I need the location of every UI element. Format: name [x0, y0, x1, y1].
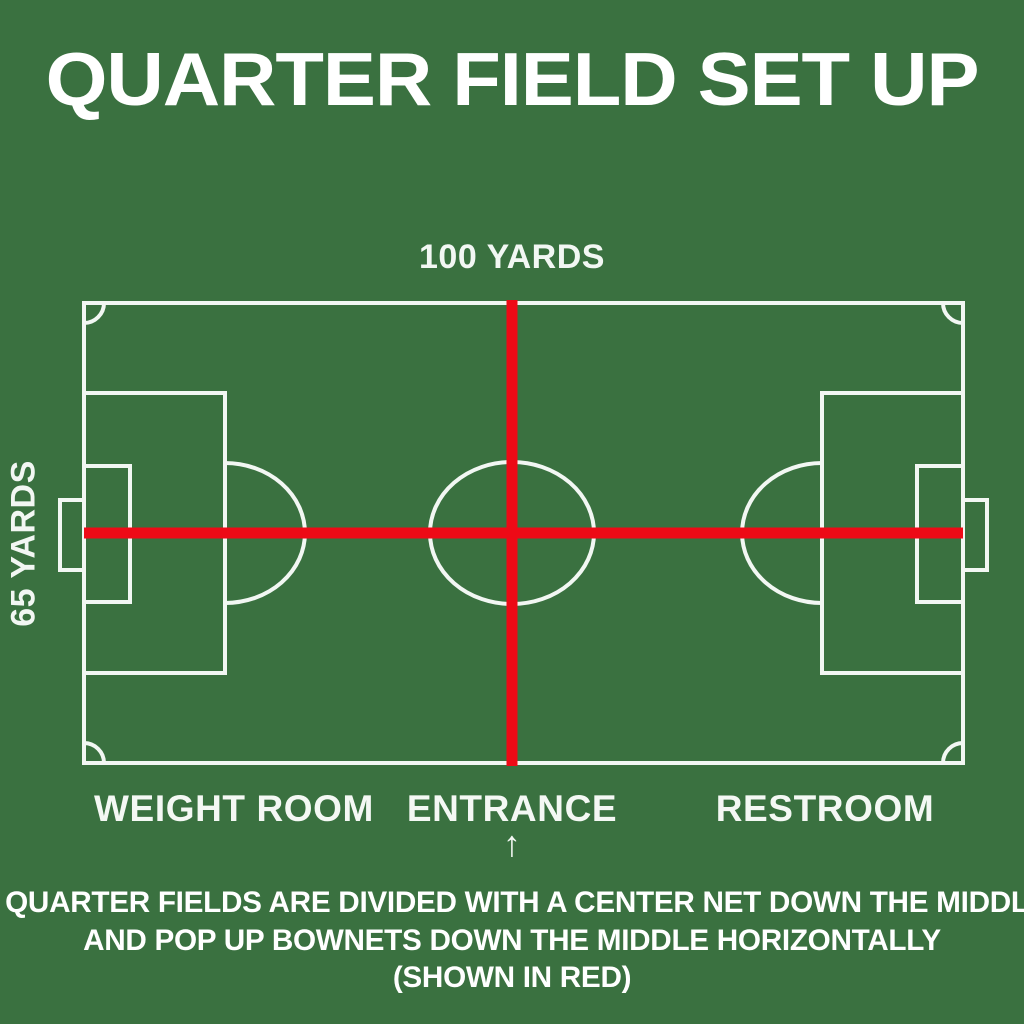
soccer-field-diagram [0, 0, 1024, 1024]
corner-arc-top-right [943, 303, 963, 323]
entrance-up-arrow-icon: ↑ [360, 826, 664, 862]
caption-line-1: QUARTER FIELDS ARE DIVIDED WITH A CENTER… [5, 884, 1019, 922]
infographic-root: QUARTER FIELD SET UP 100 YARDS 65 YARDS [0, 0, 1024, 1024]
goal-right [963, 500, 987, 570]
zone-label-restroom: RESTROOM [660, 788, 990, 830]
zone-label-weight-room: WEIGHT ROOM [56, 788, 412, 830]
caption-line-3: (SHOWN IN RED) [5, 959, 1019, 997]
corner-arc-top-left [84, 303, 104, 323]
goal-left [60, 500, 84, 570]
net-divider-group [84, 300, 963, 766]
caption-line-2: AND POP UP BOWNETS DOWN THE MIDDLE HORIZ… [5, 922, 1019, 960]
corner-arc-bottom-right [943, 743, 963, 763]
corner-arc-bottom-left [84, 743, 104, 763]
caption-block: QUARTER FIELDS ARE DIVIDED WITH A CENTER… [0, 884, 1024, 997]
